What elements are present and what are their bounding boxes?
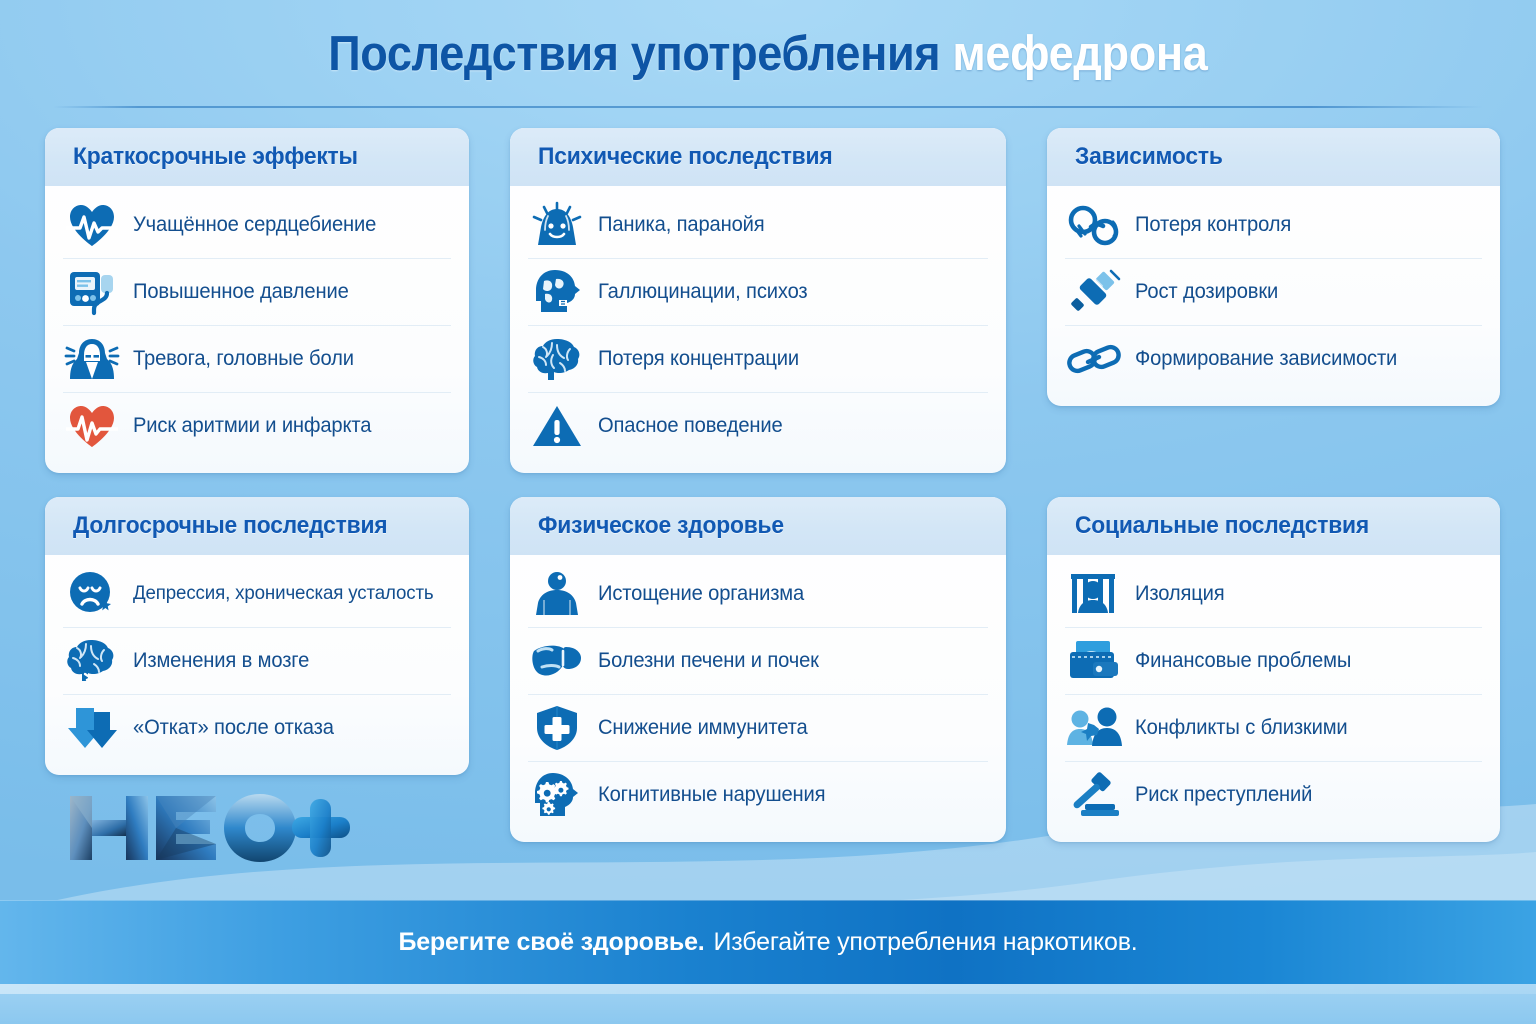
liver-kidney-icon xyxy=(528,632,586,690)
card-header-title: Психические последствия xyxy=(538,143,832,171)
card-header-title: Краткосрочные эффекты xyxy=(73,143,358,171)
title-divider xyxy=(53,106,1483,108)
list-item-label: Конфликты с близкими xyxy=(1135,716,1348,739)
list-item[interactable]: Когнитивные нарушения xyxy=(528,762,988,828)
page-title-main: Последствия употребления xyxy=(328,27,940,81)
list-item-label: Риск преступлений xyxy=(1135,783,1312,806)
cards-row-1: Краткосрочные эффекты Учащённое сердцеби… xyxy=(45,128,1500,473)
list-item[interactable]: Конфликты с близкими xyxy=(1065,695,1482,762)
heart-pulse-icon xyxy=(63,196,121,254)
list-item-label: Депрессия, хроническая усталость xyxy=(133,583,434,604)
card-body: Депрессия, хроническая усталость Изменен… xyxy=(45,555,469,775)
card-body: Истощение организма Боле xyxy=(510,555,1006,842)
card-header: Зависимость xyxy=(1047,128,1500,186)
list-item-label: «Откат» после отказа xyxy=(133,716,334,739)
shield-cross-icon xyxy=(528,699,586,757)
list-item-label: Риск аритмии и инфаркта xyxy=(133,414,371,437)
sad-face-icon xyxy=(63,565,121,623)
list-item[interactable]: Потеря контроля xyxy=(1065,192,1482,259)
list-item[interactable]: Снижение иммунитета xyxy=(528,695,988,762)
list-item-label: Галлюцинации, психоз xyxy=(598,280,808,303)
list-item-label: Рост дозировки xyxy=(1135,280,1278,303)
card-body: Потеря контроля Рост доз xyxy=(1047,186,1500,406)
heart-arrhythmia-red-icon xyxy=(63,397,121,455)
list-item[interactable]: Паника, паранойя xyxy=(528,192,988,259)
list-item[interactable]: «Откат» после отказа xyxy=(63,695,451,761)
list-item-label: Опасное поведение xyxy=(598,414,783,437)
logo-neo-plus xyxy=(64,788,354,868)
list-item-label: Изоляция xyxy=(1135,582,1225,605)
list-item-label: Болезни печени и почек xyxy=(598,649,819,672)
head-gears-icon xyxy=(528,766,586,824)
card-body: Учащённое сердцебиение xyxy=(45,186,469,473)
list-item[interactable]: Рост дозировки xyxy=(1065,259,1482,326)
footer-text: Берегите своё здоровье. Избегайте употре… xyxy=(0,900,1536,984)
list-item-label: Потеря концентрации xyxy=(598,347,799,370)
footer-text-regular: Избегайте употребления наркотиков. xyxy=(714,928,1138,957)
card-social: Социальные последствия xyxy=(1047,497,1500,842)
list-item-label: Учащённое сердцебиение xyxy=(133,213,376,236)
card-header: Физическое здоровье xyxy=(510,497,1006,555)
panic-face-icon xyxy=(528,196,586,254)
brain-icon xyxy=(528,330,586,388)
list-item-label: Повышенное давление xyxy=(133,280,349,303)
footer-banner: Берегите своё здоровье. Избегайте употре… xyxy=(0,900,1536,984)
card-header: Долгосрочные последствия xyxy=(45,497,469,555)
blood-pressure-monitor-icon xyxy=(63,263,121,321)
cards-grid: Краткосрочные эффекты Учащённое сердцеби… xyxy=(45,128,1500,842)
list-item-label: Тревога, головные боли xyxy=(133,347,354,370)
list-item[interactable]: Повышенное давление xyxy=(63,259,451,326)
list-item-label: Паника, паранойя xyxy=(598,213,765,236)
list-item[interactable]: Риск аритмии и инфаркта xyxy=(63,393,451,459)
list-item[interactable]: Риск преступлений xyxy=(1065,762,1482,828)
card-mental: Психические последствия xyxy=(510,128,1006,473)
list-item[interactable]: Изоляция xyxy=(1065,561,1482,628)
list-item[interactable]: Галлюцинации, психоз xyxy=(528,259,988,326)
page-title: Последствия употребления мефедрона xyxy=(0,26,1536,82)
card-header-title: Зависимость xyxy=(1075,143,1223,171)
list-item-label: Формирование зависимости xyxy=(1135,347,1397,370)
card-long-term: Долгосрочные последствия xyxy=(45,497,469,775)
chain-link-icon xyxy=(1065,330,1123,388)
syringe-icon xyxy=(1065,263,1123,321)
footer-text-bold: Берегите своё здоровье. xyxy=(398,928,704,957)
page-title-accent: мефедрона xyxy=(953,27,1208,81)
card-header: Социальные последствия xyxy=(1047,497,1500,555)
down-arrows-icon xyxy=(63,699,121,757)
list-item[interactable]: Депрессия, хроническая усталость xyxy=(63,561,451,628)
card-header-title: Физическое здоровье xyxy=(538,512,784,540)
card-addiction: Зависимость Потер xyxy=(1047,128,1500,406)
list-item[interactable]: Потеря концентрации xyxy=(528,326,988,393)
prison-bars-person-icon xyxy=(1065,565,1123,623)
handcuffs-icon xyxy=(1065,196,1123,254)
card-header-title: Социальные последствия xyxy=(1075,512,1369,540)
card-header: Психические последствия xyxy=(510,128,1006,186)
list-item[interactable]: Истощение организма xyxy=(528,561,988,628)
list-item[interactable]: Финансовые проблемы xyxy=(1065,628,1482,695)
list-item[interactable]: Учащённое сердцебиение xyxy=(63,192,451,259)
list-item-label: Изменения в мозге xyxy=(133,649,309,672)
card-body: Паника, паранойя xyxy=(510,186,1006,473)
headache-person-icon xyxy=(63,330,121,388)
hallucination-head-icon xyxy=(528,263,586,321)
conflict-people-icon xyxy=(1065,699,1123,757)
card-body: Изоляция xyxy=(1047,555,1500,842)
gavel-icon xyxy=(1065,766,1123,824)
list-item-label: Финансовые проблемы xyxy=(1135,649,1351,672)
brain-changes-icon xyxy=(63,632,121,690)
list-item-label: Когнитивные нарушения xyxy=(598,783,825,806)
list-item-label: Снижение иммунитета xyxy=(598,716,808,739)
card-header: Краткосрочные эффекты xyxy=(45,128,469,186)
warning-triangle-icon xyxy=(528,397,586,455)
wallet-icon xyxy=(1065,632,1123,690)
list-item[interactable]: Болезни печени и почек xyxy=(528,628,988,695)
list-item[interactable]: Тревога, головные боли xyxy=(63,326,451,393)
list-item[interactable]: Изменения в мозге xyxy=(63,628,451,695)
list-item[interactable]: Опасное поведение xyxy=(528,393,988,459)
card-short-term: Краткосрочные эффекты Учащённое сердцеби… xyxy=(45,128,469,473)
list-item[interactable]: Формирование зависимости xyxy=(1065,326,1482,392)
list-item-label: Потеря контроля xyxy=(1135,213,1291,236)
card-physical: Физическое здоровье Истощение орга xyxy=(510,497,1006,842)
thin-person-icon xyxy=(528,565,586,623)
card-header-title: Долгосрочные последствия xyxy=(73,512,387,540)
list-item-label: Истощение организма xyxy=(598,582,804,605)
